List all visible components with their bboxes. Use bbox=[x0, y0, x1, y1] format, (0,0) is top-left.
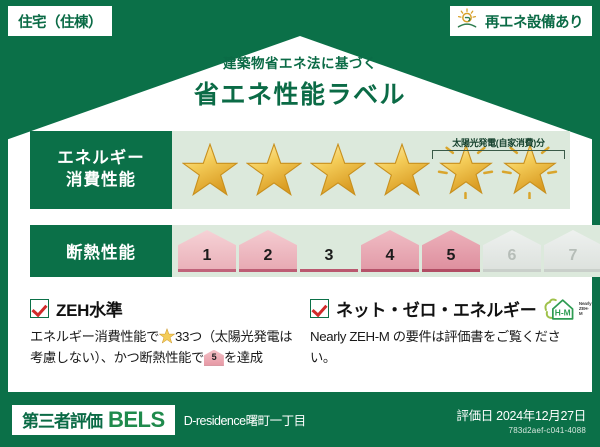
title-subtitle: 建築物省エネ法に基づく bbox=[0, 52, 600, 72]
page-title: 省エネ性能ラベル bbox=[0, 75, 600, 111]
house-inline-icon: 5 bbox=[204, 350, 224, 366]
criteria-net-zero-energy: ネット・ゼロ・エネルギー H-M Nearly ZEH-M Nearly ZEH… bbox=[310, 296, 575, 368]
insulation-level-item: 2 bbox=[239, 230, 297, 272]
insulation-level-value: 4 bbox=[361, 230, 419, 272]
zeh-m-caption-line2: ZEH-M bbox=[579, 306, 589, 316]
badge-housing-type: 住宅（住棟） bbox=[8, 6, 112, 36]
insulation-performance-label-block: 断熱性能 bbox=[30, 225, 172, 277]
star-filled bbox=[242, 139, 305, 201]
badge-housing-type-label: 住宅（住棟） bbox=[18, 11, 102, 32]
energy-star-track: 太陽光発電(自家消費)分 bbox=[172, 131, 570, 209]
house-inline-level: 5 bbox=[204, 350, 224, 366]
insulation-level-item: 3 bbox=[300, 230, 358, 272]
star-filled bbox=[178, 139, 241, 201]
energy-performance-row: エネルギー 消費性能 太陽光発電(自家消費)分 bbox=[30, 131, 570, 209]
bels-logo-text: BELS bbox=[108, 407, 165, 433]
criteria-zeh-text-1: エネルギー消費性能で bbox=[30, 329, 159, 344]
criteria-zeh-title: ZEH水準 bbox=[56, 296, 123, 321]
star-rating-group bbox=[172, 139, 570, 201]
evaluation-date-label: 評価日 bbox=[456, 409, 493, 423]
zeh-m-house-icon: H-M bbox=[543, 297, 577, 321]
insulation-level-item: 6 bbox=[483, 230, 541, 272]
criteria-nze-body: Nearly ZEH-M の要件は評価書をご覧ください。 bbox=[310, 327, 575, 368]
badge-renewable-label: 再エネ設備あり bbox=[485, 11, 583, 32]
bottom-bar: 第三者評価 BELS D-residence曙町一丁目 評価日 2024年12月… bbox=[0, 392, 600, 447]
insulation-label: 断熱性能 bbox=[66, 239, 136, 263]
criteria-zeh-text-3: を達成 bbox=[224, 350, 263, 365]
energy-label-line1: エネルギー bbox=[57, 148, 145, 170]
badge-renewable-equipment: 再エネ設備あり bbox=[450, 6, 592, 36]
insulation-level-value: 2 bbox=[239, 230, 297, 272]
insulation-level-item: 4 bbox=[361, 230, 419, 272]
insulation-level-track: 1 2 3 4 5 6 7 bbox=[172, 225, 600, 277]
insulation-level-value: 7 bbox=[544, 230, 600, 272]
criteria-zeh-star-count: 3 bbox=[175, 329, 182, 344]
zeh-m-logo: H-M Nearly ZEH-M bbox=[543, 297, 592, 321]
property-name: D-residence曙町一丁目 bbox=[184, 410, 306, 429]
third-party-label: 第三者評価 bbox=[22, 407, 102, 432]
star-filled bbox=[370, 139, 433, 201]
insulation-level-value: 5 bbox=[422, 230, 480, 272]
check-icon-zeh bbox=[30, 299, 49, 318]
star-inline-icon bbox=[159, 328, 175, 344]
criteria-zeh-header: ZEH水準 bbox=[30, 296, 298, 321]
check-icon-net-zero bbox=[310, 299, 329, 318]
star-filled-solar bbox=[498, 139, 561, 201]
energy-performance-label: 住宅（住棟） 再エネ設備あり 建築物省エネ法に基づく 省エネ性能ラベル bbox=[0, 0, 600, 447]
insulation-level-item: 7 bbox=[544, 230, 600, 272]
energy-performance-label-block: エネルギー 消費性能 bbox=[30, 131, 172, 209]
zeh-m-logo-caption: Nearly ZEH-M bbox=[579, 301, 592, 317]
insulation-level-item-achieved: 5 bbox=[422, 230, 480, 272]
star-filled bbox=[306, 139, 369, 201]
svg-text:H-M: H-M bbox=[555, 307, 571, 317]
criteria-zeh-body: エネルギー消費性能で 33つ（太陽光発電は考慮しない）、かつ断熱性能で5を達成 bbox=[30, 327, 298, 368]
evaluation-info: 評価日 2024年12月27日 783d2aef-c041-4088 bbox=[456, 405, 586, 435]
evaluation-date: 評価日 2024年12月27日 bbox=[456, 405, 586, 424]
bels-certification-box: 第三者評価 BELS bbox=[12, 405, 175, 435]
sparkle-rays-icon bbox=[498, 139, 561, 199]
insulation-level-value: 1 bbox=[178, 230, 236, 272]
criteria-nze-header: ネット・ゼロ・エネルギー H-M Nearly ZEH-M bbox=[310, 296, 575, 321]
energy-label-line2: 消費性能 bbox=[66, 170, 136, 192]
sun-solar-icon bbox=[456, 8, 480, 35]
star-filled-solar bbox=[434, 139, 497, 201]
criteria-zeh-standard: ZEH水準 エネルギー消費性能で 33つ（太陽光発電は考慮しない）、かつ断熱性能… bbox=[30, 296, 298, 368]
insulation-level-value: 3 bbox=[300, 230, 358, 272]
insulation-level-group: 1 2 3 4 5 6 7 bbox=[172, 230, 600, 272]
insulation-level-item: 1 bbox=[178, 230, 236, 272]
insulation-performance-row: 断熱性能 1 2 3 4 5 6 bbox=[30, 225, 570, 277]
title-block: 建築物省エネ法に基づく 省エネ性能ラベル bbox=[0, 52, 600, 111]
criteria-nze-title: ネット・ゼロ・エネルギー bbox=[336, 296, 536, 321]
insulation-level-value: 6 bbox=[483, 230, 541, 272]
sparkle-rays-icon bbox=[434, 139, 497, 199]
evaluation-id: 783d2aef-c041-4088 bbox=[456, 426, 586, 435]
evaluation-date-value: 2024年12月27日 bbox=[496, 409, 586, 423]
